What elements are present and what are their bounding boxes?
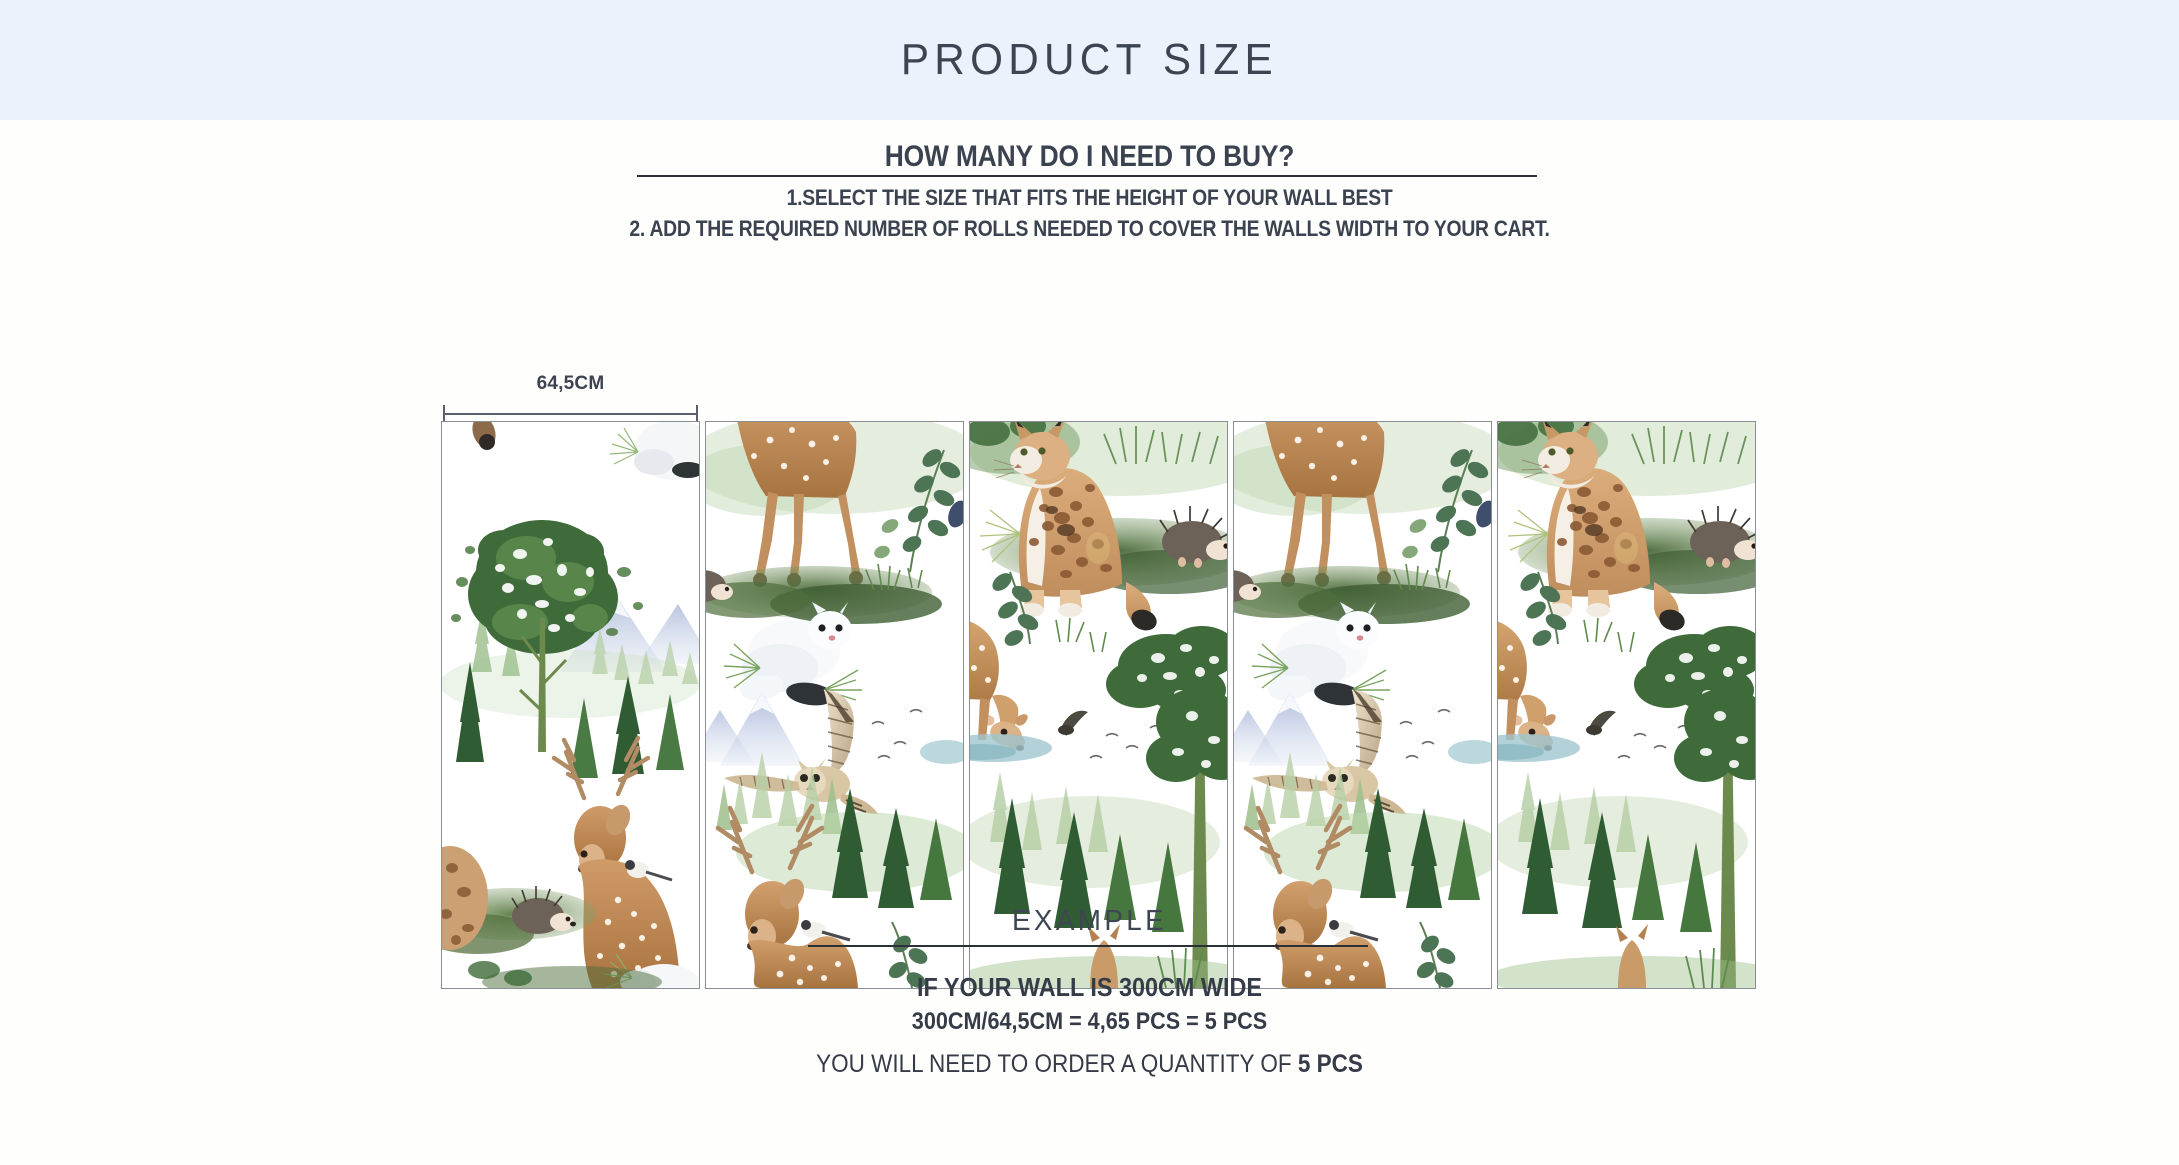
dimension-line-icon: [443, 413, 698, 415]
product-size-infographic: PRODUCT SIZE HOW MANY DO I NEED TO BUY? …: [0, 0, 2179, 1165]
wallpaper-roll-preview-row: [441, 421, 1737, 989]
wallpaper-roll-panel[interactable]: [969, 421, 1228, 989]
page-title: PRODUCT SIZE: [901, 35, 1278, 85]
instruction-steps: 1.SELECT THE SIZE THAT FITS THE HEIGHT O…: [0, 182, 2179, 244]
example-order-value: 5 PCS: [1298, 1050, 1363, 1078]
heading-divider: [637, 175, 1537, 177]
instruction-step-2: 2. ADD THE REQUIRED NUMBER OF ROLLS NEED…: [131, 213, 2049, 244]
wallpaper-artwork: [706, 422, 963, 988]
wallpaper-artwork: [1234, 422, 1491, 988]
example-heading: EXAMPLE: [44, 905, 2136, 938]
wallpaper-roll-panel[interactable]: [441, 421, 700, 989]
wallpaper-roll-panel[interactable]: [1497, 421, 1756, 989]
example-order-quantity: YOU WILL NEED TO ORDER A QUANTITY OF 5 P…: [109, 1050, 2070, 1079]
page-banner: PRODUCT SIZE: [0, 0, 2179, 120]
wallpaper-artwork: [442, 422, 699, 988]
wallpaper-artwork: [1498, 422, 1755, 988]
example-order-prefix: YOU WILL NEED TO ORDER A QUANTITY OF: [816, 1050, 1298, 1078]
wallpaper-roll-panel[interactable]: [1233, 421, 1492, 989]
instruction-step-1: 1.SELECT THE SIZE THAT FITS THE HEIGHT O…: [131, 182, 2049, 213]
roll-width-label: 64,5CM: [441, 373, 700, 395]
example-calculation: 300CM/64,5CM = 4,65 PCS = 5 PCS: [109, 1008, 2070, 1036]
example-wall-width: IF YOUR WALL IS 300CM WIDE: [109, 972, 2070, 1003]
roll-width-dimension: 64,5CM: [441, 373, 700, 421]
wallpaper-artwork: [970, 422, 1227, 988]
wallpaper-roll-panel[interactable]: [705, 421, 964, 989]
instructions-heading: HOW MANY DO I NEED TO BUY?: [131, 140, 2049, 174]
infographic-body: HOW MANY DO I NEED TO BUY? 1.SELECT THE …: [0, 120, 2179, 1165]
example-divider: [808, 945, 1368, 947]
